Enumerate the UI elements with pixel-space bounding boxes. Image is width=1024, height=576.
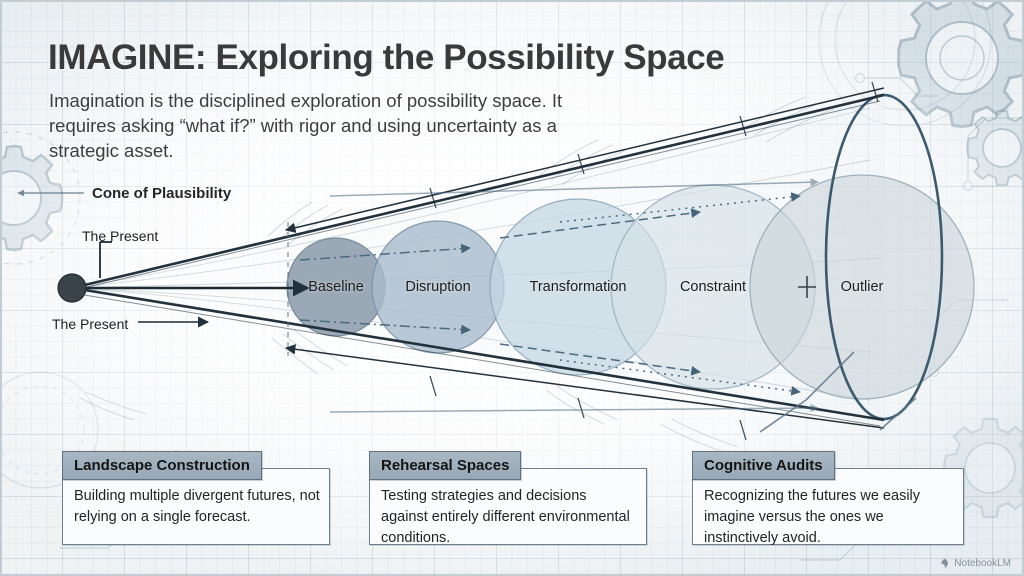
present-label-top: The Present	[82, 228, 158, 244]
card-text: Testing strategies and decisions against…	[381, 486, 637, 549]
notebooklm-icon	[939, 558, 950, 569]
infographic-canvas: IMAGINE: Exploring the Possibility Space…	[0, 0, 1024, 576]
card-text: Building multiple divergent futures, not…	[74, 486, 320, 528]
card-heading: Cognitive Audits	[692, 451, 835, 480]
present-label-bottom: The Present	[52, 316, 128, 332]
scenario-label: Constraint	[680, 279, 746, 295]
scenario-label: Disruption	[405, 279, 470, 295]
scenario-label: Transformation	[530, 279, 627, 295]
card-text: Recognizing the futures we easily imagin…	[704, 486, 954, 549]
watermark: NotebookLM	[939, 558, 1011, 569]
subtitle-text: Imagination is the disciplined explorati…	[49, 88, 569, 163]
card-landscape-construction[interactable]: Landscape Construction Building multiple…	[62, 451, 330, 545]
cone-of-plausibility-label: Cone of Plausibility	[92, 185, 231, 202]
card-rehearsal-spaces[interactable]: Rehearsal Spaces Testing strategies and …	[369, 451, 647, 545]
scenario-label: Outlier	[841, 279, 884, 295]
card-heading: Rehearsal Spaces	[369, 451, 521, 480]
card-cognitive-audits[interactable]: Cognitive Audits Recognizing the futures…	[692, 451, 964, 545]
page-title: IMAGINE: Exploring the Possibility Space	[48, 38, 724, 78]
watermark-label: NotebookLM	[954, 558, 1011, 569]
scenario-label: Baseline	[308, 279, 364, 295]
card-heading: Landscape Construction	[62, 451, 262, 480]
